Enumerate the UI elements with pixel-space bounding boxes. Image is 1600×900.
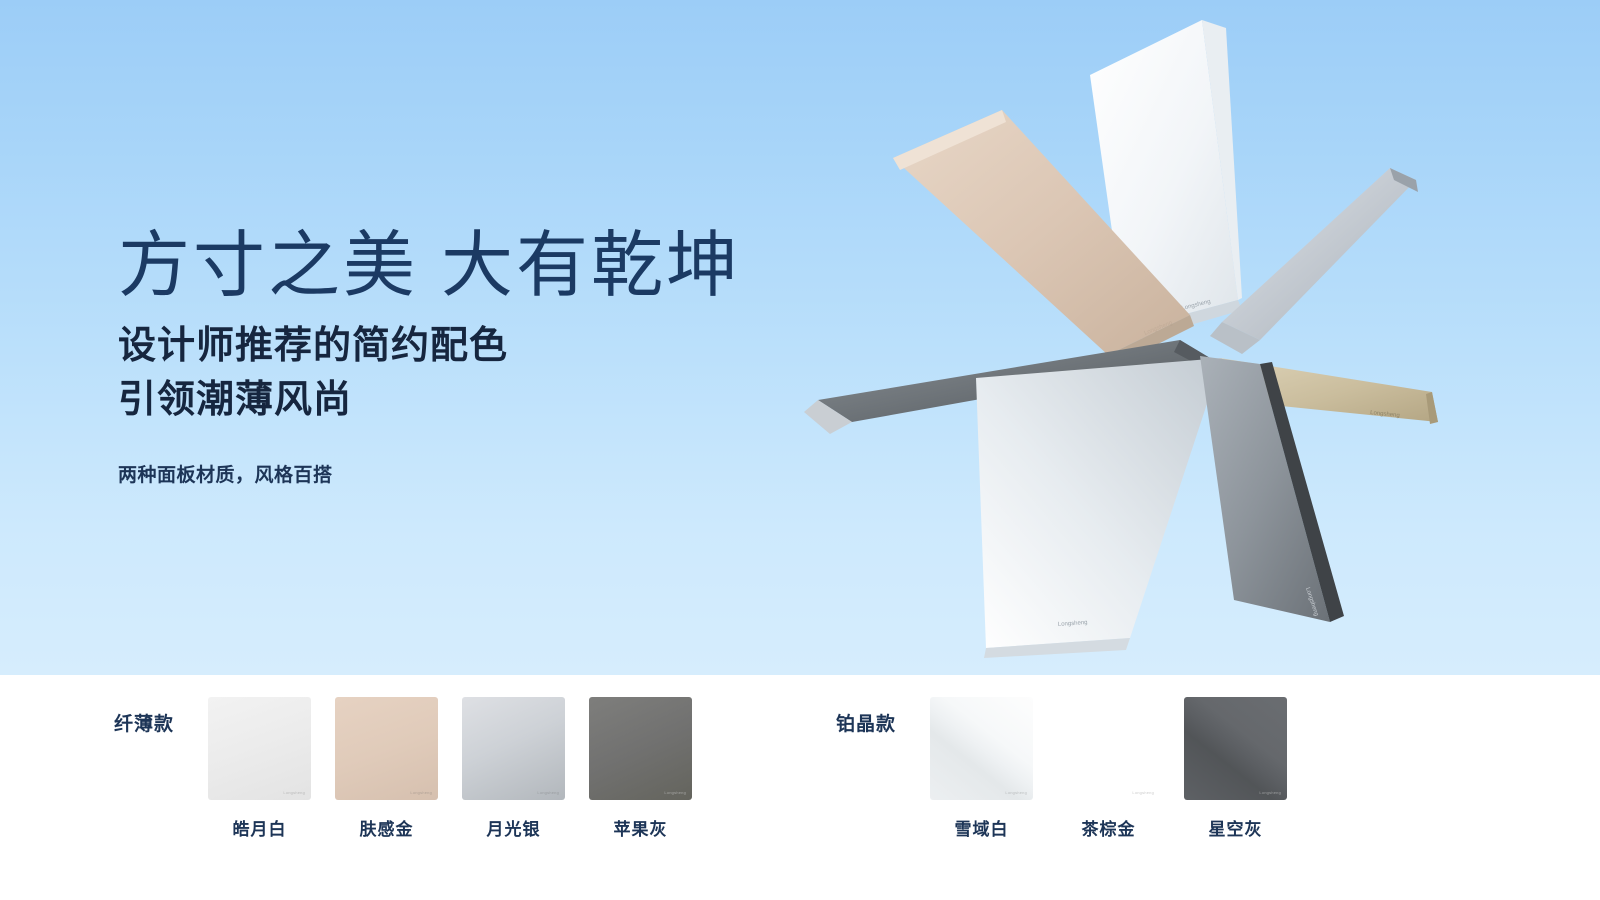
swatch-label: 星空灰 xyxy=(1172,815,1299,840)
color-chip-chazongjin[interactable]: Longsheng xyxy=(1057,697,1160,800)
hero-caption: 两种面板材质，风格百搭 xyxy=(118,460,798,487)
hero-section: 方寸之美 大有乾坤 设计师推荐的简约配色 引领潮薄风尚 两种面板材质，风格百搭 xyxy=(0,0,1600,675)
color-chip-xingkonghui[interactable]: Longsheng xyxy=(1184,697,1287,800)
page-title: 方寸之美 大有乾坤 xyxy=(118,228,798,306)
swatch-item[interactable]: Longsheng 苹果灰 xyxy=(577,697,704,840)
swatch-item[interactable]: Longsheng 肤感金 xyxy=(323,697,450,840)
chip-surface xyxy=(208,697,311,800)
swatch-item[interactable]: Longsheng 星空灰 xyxy=(1172,697,1299,840)
chip-surface xyxy=(462,697,565,800)
chip-surface xyxy=(335,697,438,800)
panel-light-silver: Longsheng xyxy=(976,358,1222,658)
brand-mark: Longsheng xyxy=(1005,790,1027,795)
chip-surface xyxy=(930,697,1033,800)
swatch-label: 苹果灰 xyxy=(577,815,704,840)
color-swatch-section: 纤薄款 Longsheng 皓月白 Longsheng 肤感金 xyxy=(0,675,1600,900)
swatch-group-label-glass: 铂晶款 xyxy=(836,697,896,736)
chip-surface xyxy=(1184,697,1287,800)
swatch-item[interactable]: Longsheng 月光银 xyxy=(450,697,577,840)
brand-mark: Longsheng xyxy=(664,790,686,795)
chip-surface xyxy=(1057,697,1160,800)
swatch-item[interactable]: Longsheng 茶棕金 xyxy=(1045,697,1172,840)
product-color-showcase-page: 方寸之美 大有乾坤 设计师推荐的简约配色 引领潮薄风尚 两种面板材质，风格百搭 xyxy=(0,0,1600,900)
swatch-item[interactable]: Longsheng 雪域白 xyxy=(918,697,1045,840)
color-chip-pingguohui[interactable]: Longsheng xyxy=(589,697,692,800)
subheadline-line-1: 设计师推荐的简约配色 xyxy=(118,320,798,374)
chip-surface xyxy=(589,697,692,800)
color-chip-yueguangyin[interactable]: Longsheng xyxy=(462,697,565,800)
panel-pinwheel-illustration: Longsheng Longsheng xyxy=(790,10,1450,660)
hero-copy-block: 方寸之美 大有乾坤 设计师推荐的简约配色 引领潮薄风尚 两种面板材质，风格百搭 xyxy=(118,228,798,487)
panel-silver xyxy=(1210,168,1418,354)
brand-mark: Longsheng xyxy=(410,790,432,795)
swatch-label: 皓月白 xyxy=(196,815,323,840)
swatch-group-slim: 纤薄款 Longsheng 皓月白 Longsheng 肤感金 xyxy=(114,697,704,840)
swatch-label: 肤感金 xyxy=(323,815,450,840)
swatch-label: 月光银 xyxy=(450,815,577,840)
subheadline-line-2: 引领潮薄风尚 xyxy=(118,374,798,428)
color-chip-haoyuebai[interactable]: Longsheng xyxy=(208,697,311,800)
swatch-list-glass: Longsheng 雪域白 Longsheng 茶棕金 Longsheng xyxy=(918,697,1299,840)
swatch-group-label-slim: 纤薄款 xyxy=(114,697,174,736)
brand-mark: Longsheng xyxy=(1132,790,1154,795)
swatch-label: 茶棕金 xyxy=(1045,815,1172,840)
swatch-label: 雪域白 xyxy=(918,815,1045,840)
product-hero-image: Longsheng Longsheng xyxy=(790,10,1450,660)
brand-mark: Longsheng xyxy=(537,790,559,795)
swatch-list-slim: Longsheng 皓月白 Longsheng 肤感金 Longsheng xyxy=(196,697,704,840)
color-chip-xueyubai[interactable]: Longsheng xyxy=(930,697,1033,800)
brand-mark: Longsheng xyxy=(1259,790,1281,795)
color-chip-fugganjin[interactable]: Longsheng xyxy=(335,697,438,800)
swatch-group-glass: 铂晶款 Longsheng 雪域白 Longsheng 茶棕金 xyxy=(836,697,1299,840)
brand-mark: Longsheng xyxy=(283,790,305,795)
swatch-item[interactable]: Longsheng 皓月白 xyxy=(196,697,323,840)
